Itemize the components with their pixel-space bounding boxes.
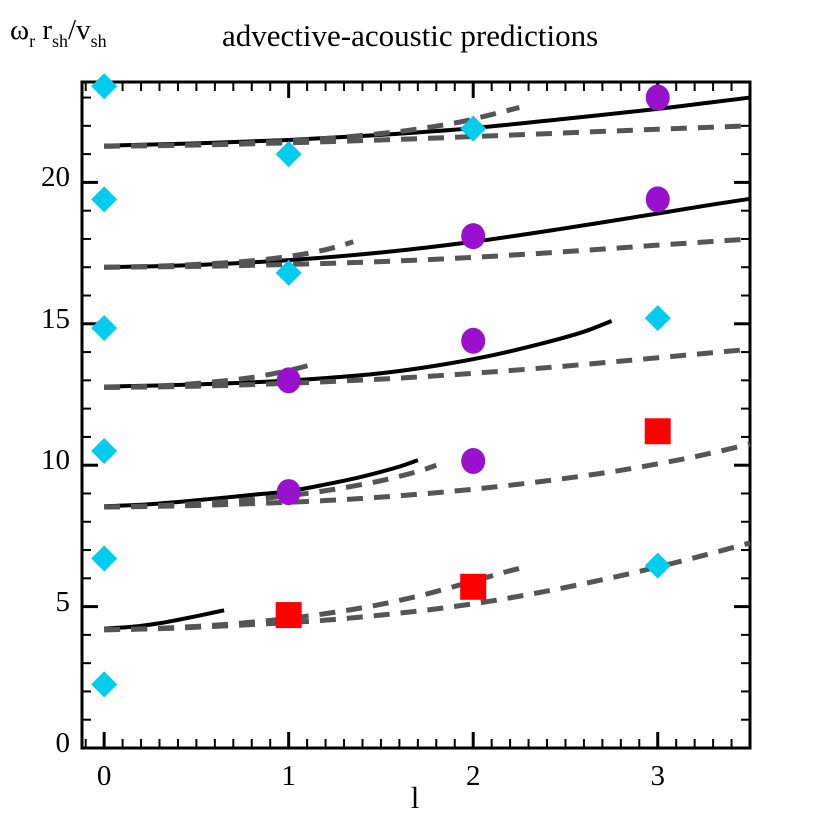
marker-square <box>645 418 671 444</box>
y-tick-label: 15 <box>10 303 70 336</box>
curve-solid-curve-2 <box>104 460 418 506</box>
x-tick-label: 1 <box>259 760 319 793</box>
marker-circle <box>646 85 670 111</box>
x-tick-label: 3 <box>628 760 688 793</box>
marker-circle <box>277 479 301 505</box>
curve-solid-curve-3 <box>104 321 611 387</box>
marker-diamond <box>645 553 671 579</box>
curves-group <box>104 98 750 630</box>
x-tick-label: 2 <box>443 760 503 793</box>
marker-diamond <box>645 305 671 331</box>
marker-circle <box>277 367 301 393</box>
marker-circle <box>461 328 485 354</box>
minor-ticks-group <box>82 82 750 748</box>
marker-diamond <box>91 315 117 341</box>
marker-square <box>276 602 302 628</box>
marker-circle <box>461 223 485 249</box>
y-tick-label: 10 <box>10 444 70 477</box>
y-tick-label: 5 <box>10 586 70 619</box>
marker-diamond <box>91 671 117 697</box>
marker-circle <box>646 186 670 212</box>
y-tick-label: 20 <box>10 161 70 194</box>
marker-square <box>460 574 486 600</box>
marker-diamond <box>91 73 117 99</box>
marker-diamond <box>91 438 117 464</box>
curve-dashed-upper-2 <box>104 444 750 507</box>
curve-dashed-upper-5 <box>104 126 750 146</box>
marker-diamond <box>91 186 117 212</box>
x-tick-label: 0 <box>74 760 134 793</box>
y-tick-label: 0 <box>10 727 70 760</box>
marker-circle <box>461 448 485 474</box>
marker-diamond <box>91 546 117 572</box>
plot-canvas <box>0 0 830 830</box>
major-ticks-group <box>82 82 750 748</box>
plot-figure: ωr rsh/vsh advective-acoustic prediction… <box>0 0 830 830</box>
plot-frame <box>82 82 750 748</box>
